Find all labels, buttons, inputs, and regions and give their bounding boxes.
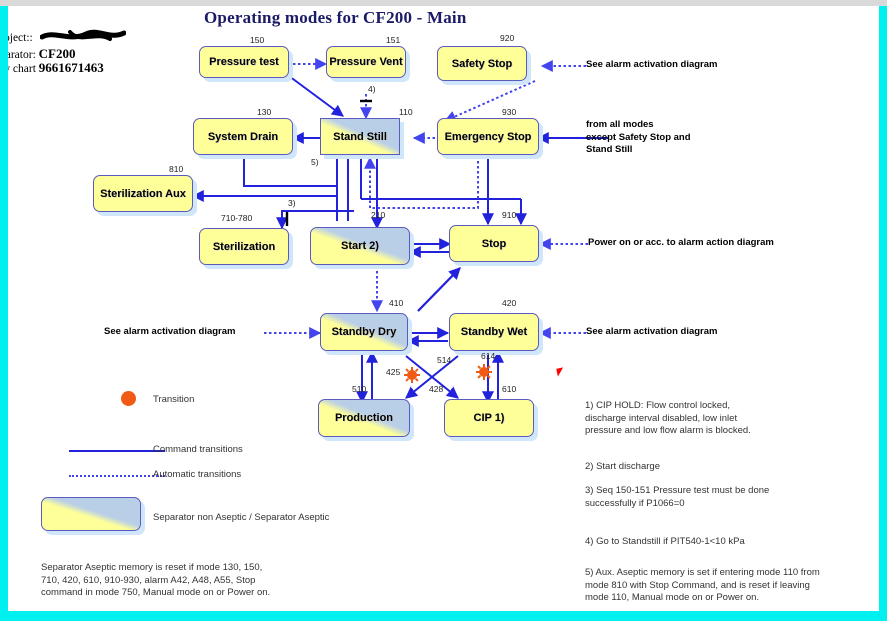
edge-label-428: 428 bbox=[429, 384, 443, 394]
node-cip[interactable]: CIP 1) bbox=[444, 399, 534, 437]
annotation-standby-dry-left: See alarm activation diagram bbox=[104, 326, 235, 339]
node-pressure-vent[interactable]: Pressure Vent bbox=[326, 46, 406, 78]
node-pressure-test[interactable]: Pressure test bbox=[199, 46, 289, 78]
node-stop[interactable]: Stop bbox=[449, 225, 539, 262]
node-num-pressure-test: 150 bbox=[250, 35, 264, 45]
node-standby-dry[interactable]: Standby Dry bbox=[320, 313, 408, 351]
diagram-frame: Operating modes for CF200 - Main oject::… bbox=[0, 0, 887, 621]
legend-command-line bbox=[69, 450, 165, 452]
bottom-note: Separator Aseptic memory is reset if mod… bbox=[41, 562, 270, 600]
legend-automatic-label: Automatic transitions bbox=[153, 469, 241, 480]
footnote-2: 2) Start discharge bbox=[585, 461, 660, 474]
footnote-1: 1) CIP HOLD: Flow control locked, discha… bbox=[585, 400, 751, 438]
legend-aseptic-box bbox=[41, 497, 141, 531]
header-project-label: oject:: bbox=[8, 32, 33, 44]
edge-label-614: 614 bbox=[481, 351, 495, 361]
edge-label-425: 425 bbox=[386, 367, 400, 377]
footnote-4: 4) Go to Standstill if PIT540-1<10 kPa bbox=[585, 536, 745, 549]
annotation-stop-right: Power on or acc. to alarm action diagram bbox=[588, 237, 774, 250]
node-sterilization[interactable]: Sterilization bbox=[199, 228, 289, 265]
header-flowchart-label: ow chart bbox=[8, 63, 36, 75]
node-system-drain[interactable]: System Drain bbox=[193, 118, 293, 155]
node-num-production: 510 bbox=[352, 384, 366, 394]
annotation-emergency-stop-right: from all modes except Safety Stop and St… bbox=[586, 119, 691, 157]
node-start[interactable]: Start 2) bbox=[310, 227, 410, 265]
legend-transition-label: Transition bbox=[153, 394, 194, 405]
node-num-pressure-vent: 151 bbox=[386, 35, 400, 45]
redaction-scribble bbox=[40, 28, 126, 44]
node-num-system-drain: 130 bbox=[257, 107, 271, 117]
header-flowchart-value: 9661671463 bbox=[39, 60, 104, 75]
node-num-standby-dry: 410 bbox=[389, 298, 403, 308]
edge-label-514: 514 bbox=[437, 355, 451, 365]
header-separator-value: CF200 bbox=[39, 46, 76, 61]
node-num-safety-stop: 920 bbox=[500, 33, 514, 43]
annotation-safety-stop-right: See alarm activation diagram bbox=[586, 59, 717, 72]
node-num-cip: 610 bbox=[502, 384, 516, 394]
header-project-line: oject:: bbox=[8, 32, 33, 44]
node-stand-still[interactable]: Stand Still bbox=[320, 118, 400, 155]
legend-aseptic-label: Separator non Aseptic / Separator Asepti… bbox=[153, 512, 329, 523]
footnote-5: 5) Aux. Aseptic memory is set if enterin… bbox=[585, 567, 820, 605]
legend-command-label: Command transitions bbox=[153, 444, 243, 455]
node-emergency-stop[interactable]: Emergency Stop bbox=[437, 118, 539, 155]
node-num-stand-still: 110 bbox=[399, 107, 413, 117]
gear-icon-transition-425 bbox=[404, 367, 420, 383]
node-standby-wet[interactable]: Standby Wet bbox=[449, 313, 539, 351]
node-num-start: 210 bbox=[371, 210, 385, 220]
edge-label-note5: 5) bbox=[311, 157, 319, 167]
header-flowchart-line: ow chart 9661671463 bbox=[8, 60, 104, 76]
node-num-stop: 910 bbox=[502, 210, 516, 220]
node-num-sterilization-aux: 810 bbox=[169, 164, 183, 174]
footnote-3: 3) Seq 150-151 Pressure test must be don… bbox=[585, 485, 769, 510]
node-sterilization-aux[interactable]: Sterilization Aux bbox=[93, 175, 193, 212]
diagram-canvas: Operating modes for CF200 - Main oject::… bbox=[8, 6, 879, 611]
page-title: Operating modes for CF200 - Main bbox=[204, 8, 466, 28]
node-num-standby-wet: 420 bbox=[502, 298, 516, 308]
legend-automatic-line bbox=[69, 475, 165, 477]
node-production[interactable]: Production bbox=[318, 399, 410, 437]
node-safety-stop[interactable]: Safety Stop bbox=[437, 46, 527, 81]
node-num-emergency-stop: 930 bbox=[502, 107, 516, 117]
legend-transition-icon bbox=[121, 391, 136, 406]
annotation-standby-wet-right: See alarm activation diagram bbox=[586, 326, 717, 339]
node-num-sterilization: 710-780 bbox=[221, 213, 252, 223]
edge-label-note4: 4) bbox=[368, 84, 376, 94]
gear-icon-transition-614 bbox=[476, 364, 492, 380]
red-cursor-marker bbox=[556, 367, 565, 376]
edge-label-note3: 3) bbox=[288, 198, 296, 208]
